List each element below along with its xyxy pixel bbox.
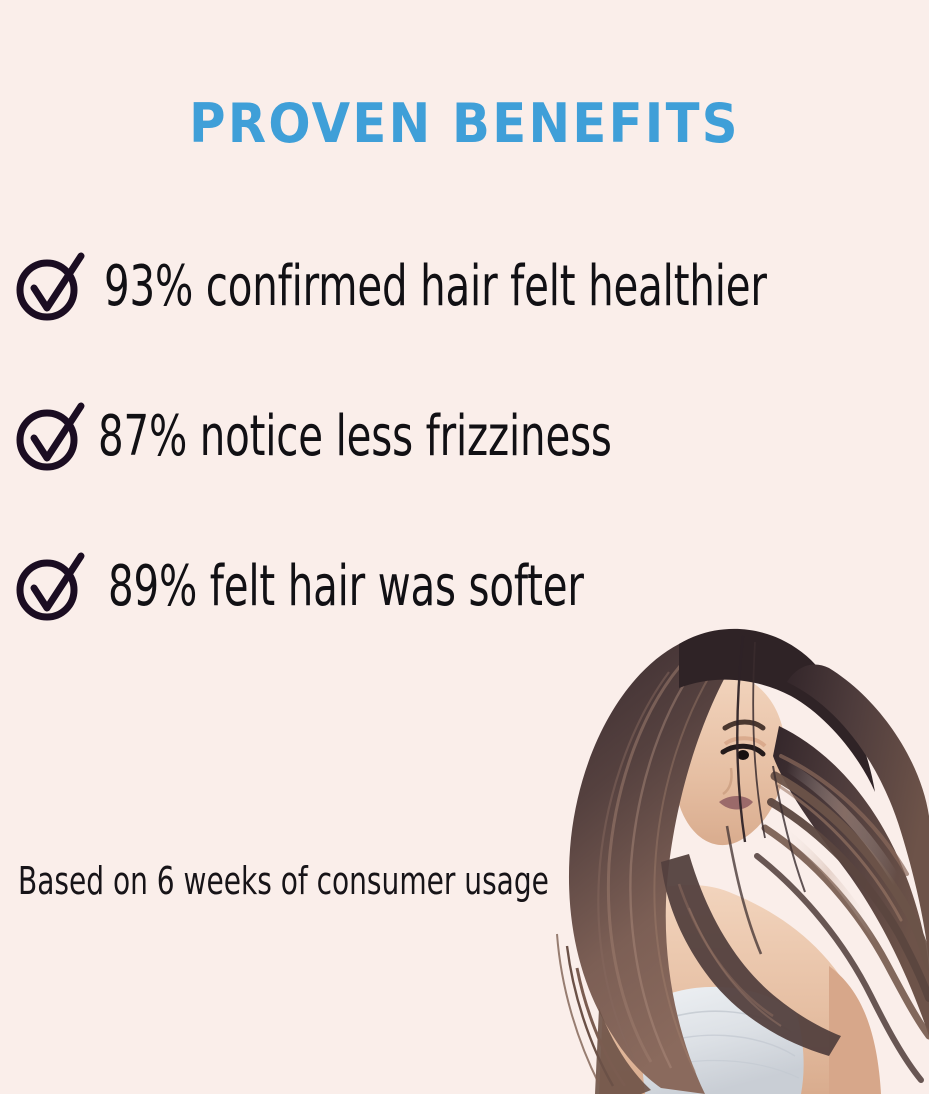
benefit-text: 89% felt hair was softer [108,548,584,622]
benefit-text: 87% notice less frizziness [98,398,612,472]
footnote-text: Based on 6 weeks of consumer usage [18,857,549,905]
page-title: PROVEN BENEFITS [37,92,892,156]
benefit-text: 93% confirmed hair felt healthier [104,248,767,322]
benefit-item: 93% confirmed hair felt healthier [0,248,929,398]
benefits-list: 93% confirmed hair felt healthier 87% no… [0,248,929,698]
check-circle-icon [14,550,86,624]
promo-graphic: PROVEN BENEFITS 93% confirmed hair felt … [0,0,929,1094]
benefit-item: 89% felt hair was softer [0,548,929,698]
check-circle-icon [14,250,86,324]
check-circle-icon [14,400,86,474]
benefit-item: 87% notice less frizziness [0,398,929,548]
